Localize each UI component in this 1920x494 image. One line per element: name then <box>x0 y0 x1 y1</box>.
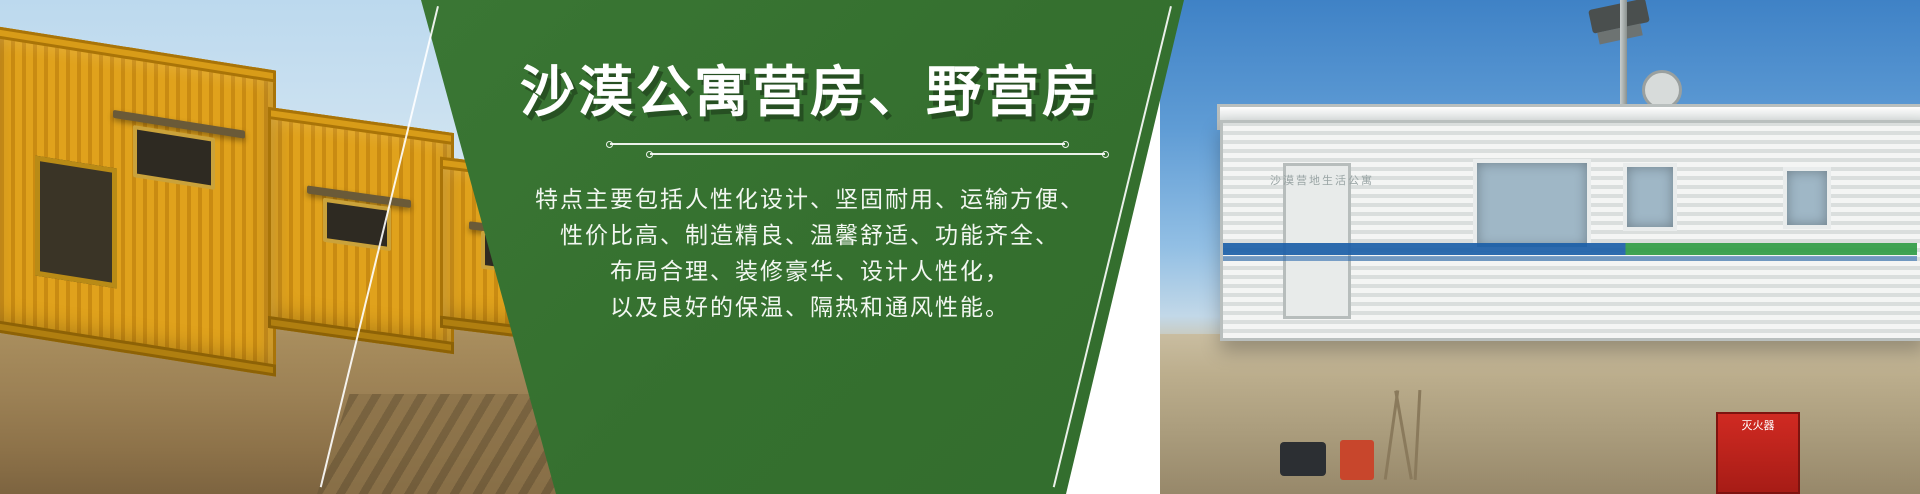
building-sign-text: 沙漠营地生活公寓 <box>1270 172 1374 188</box>
subtitle-line-1: 特点主要包括人性化设计、坚固耐用、运输方便、 <box>535 181 1085 217</box>
container-window <box>133 125 215 190</box>
subtitle-line-3: 布局合理、装修豪华、设计人性化， <box>535 253 1085 289</box>
right-photo: 沙漠营地生活公寓 灭火器 <box>1160 0 1920 494</box>
banner-content: 沙漠公寓营房、野营房 特点主要包括人性化设计、坚固耐用、运输方便、 性价比高、制… <box>430 0 1190 494</box>
fire-extinguisher-box: 灭火器 <box>1716 412 1800 494</box>
building-window-2 <box>1623 163 1677 231</box>
rule-dot-bottom-left <box>646 151 653 158</box>
building-window-1 <box>1473 159 1591 251</box>
fire-box-label: 灭火器 <box>1718 420 1798 433</box>
subtitle-line-2: 性价比高、制造精良、温馨舒适、功能齐全、 <box>535 217 1085 253</box>
rule-dot-top-left <box>606 141 613 148</box>
right-ground <box>1160 334 1920 494</box>
container-building-2 <box>268 107 454 354</box>
barrel-red <box>1340 440 1374 480</box>
rule-dot-top-right <box>1062 141 1069 148</box>
rule-dot-bottom-right <box>1102 151 1109 158</box>
container-window <box>323 198 391 252</box>
barrel-dark <box>1280 442 1326 476</box>
decorative-rule-top <box>610 143 1065 145</box>
banner-subtitle: 特点主要包括人性化设计、坚固耐用、运输方便、 性价比高、制造精良、温馨舒适、功能… <box>535 181 1085 325</box>
subtitle-line-4: 以及良好的保温、隔热和通风性能。 <box>535 289 1085 325</box>
container-building-1 <box>0 25 276 376</box>
building-window-3 <box>1783 167 1831 229</box>
building-color-stripe-secondary <box>1223 256 1917 261</box>
banner-title: 沙漠公寓营房、野营房 <box>520 62 1100 123</box>
building-color-stripe <box>1223 243 1917 255</box>
product-banner: 沙漠营地生活公寓 灭火器 沙漠公寓营房、野营房 特点主要包括人性化设计、坚固耐用… <box>0 0 1920 494</box>
decorative-rules <box>550 143 1070 165</box>
decorative-rule-bottom <box>650 153 1105 155</box>
container-door <box>35 155 117 288</box>
container-dormitory-building <box>1220 120 1920 341</box>
